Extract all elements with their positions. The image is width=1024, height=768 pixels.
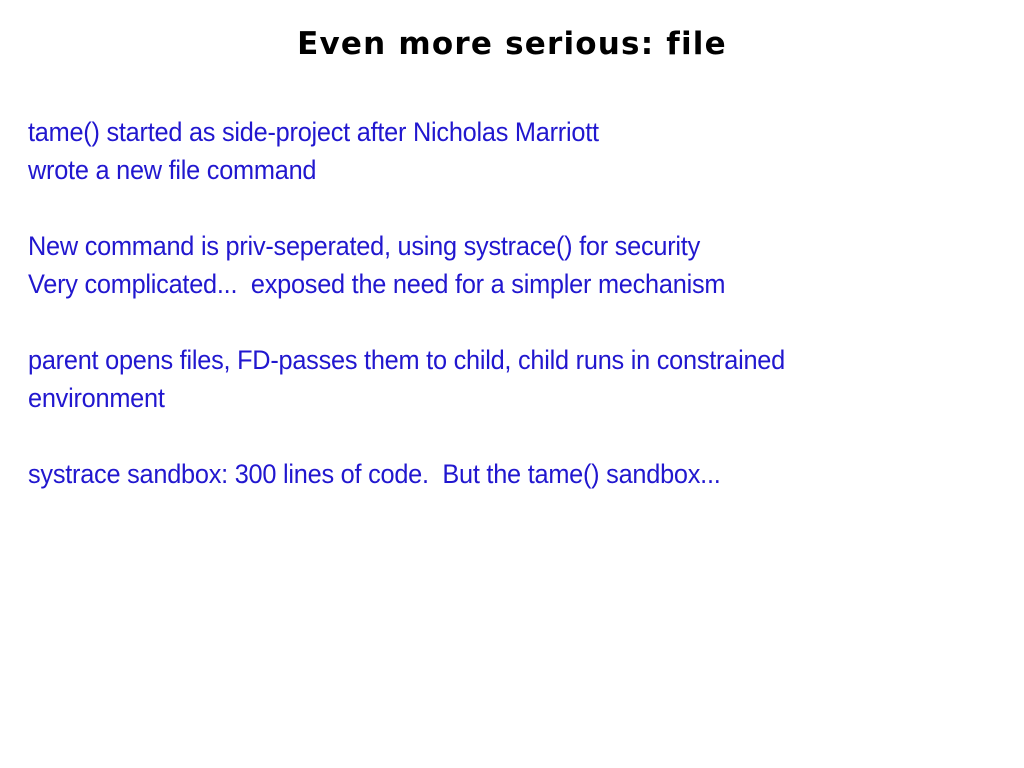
- paragraph-block: systrace sandbox: 300 lines of code. But…: [28, 455, 1008, 493]
- presentation-slide: Even more serious: file tame() started a…: [0, 0, 1024, 768]
- body-line: New command is priv-seperated, using sys…: [28, 227, 964, 265]
- body-line: Very complicated... exposed the need for…: [28, 265, 964, 303]
- paragraph-block: tame() started as side-project after Nic…: [28, 113, 1008, 189]
- page-title: Even more serious: file: [0, 26, 1024, 62]
- paragraph-block: New command is priv-seperated, using sys…: [28, 227, 1008, 303]
- body-line: parent opens files, FD-passes them to ch…: [28, 341, 964, 379]
- slide-body: tame() started as side-project after Nic…: [28, 113, 1008, 531]
- body-line: wrote a new file command: [28, 151, 964, 189]
- paragraph-block: parent opens files, FD-passes them to ch…: [28, 341, 1008, 417]
- body-line: environment: [28, 379, 964, 417]
- body-line: systrace sandbox: 300 lines of code. But…: [28, 455, 964, 493]
- body-line: tame() started as side-project after Nic…: [28, 113, 964, 151]
